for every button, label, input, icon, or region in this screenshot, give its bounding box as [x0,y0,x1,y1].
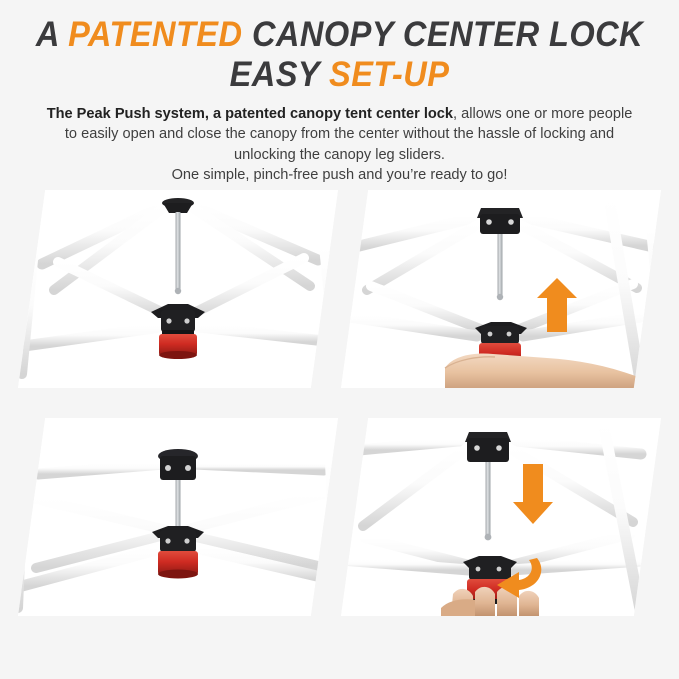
panel-bottom-right-image [341,418,661,616]
panel-top-right [341,190,661,388]
panel-bottom-left-image [18,418,338,616]
panel-top-right-image [341,190,661,388]
panel-bottom-left [18,418,338,616]
center-lock-hub [152,526,204,579]
center-rod [176,212,181,290]
headline-line-1-part-1: A [36,15,68,54]
panel-top-left [18,190,338,388]
headline-line-1-part-2: CANOPY CENTER LOCK [242,15,643,54]
headline-line-2-part-1: EASY [230,55,329,94]
center-rod [486,462,491,536]
top-cap [158,449,198,480]
headline-accent-setup: SET-UP [329,55,449,94]
headline-accent-patented: PATENTED [68,15,242,54]
panel-bottom-right [341,418,661,616]
headline-block: A PATENTED CANOPY CENTER LOCK EASY SET-U… [0,0,679,92]
center-rod [176,480,181,528]
headline-line-2: EASY SET-UP [24,57,655,92]
center-rod [498,234,503,296]
body-bold-lead: The Peak Push system, a patented canopy … [47,106,453,122]
body-closing: One simple, pinch-free push and you’re r… [40,165,640,185]
headline-line-1: A PATENTED CANOPY CENTER LOCK [24,17,655,52]
top-cap [465,432,511,462]
panel-grid [0,186,679,646]
product-infographic: A PATENTED CANOPY CENTER LOCK EASY SET-U… [0,0,679,679]
panel-top-left-image [18,190,338,388]
body-paragraph: The Peak Push system, a patented canopy … [40,104,640,165]
top-cap [477,208,523,234]
body-copy: The Peak Push system, a patented canopy … [40,104,640,186]
